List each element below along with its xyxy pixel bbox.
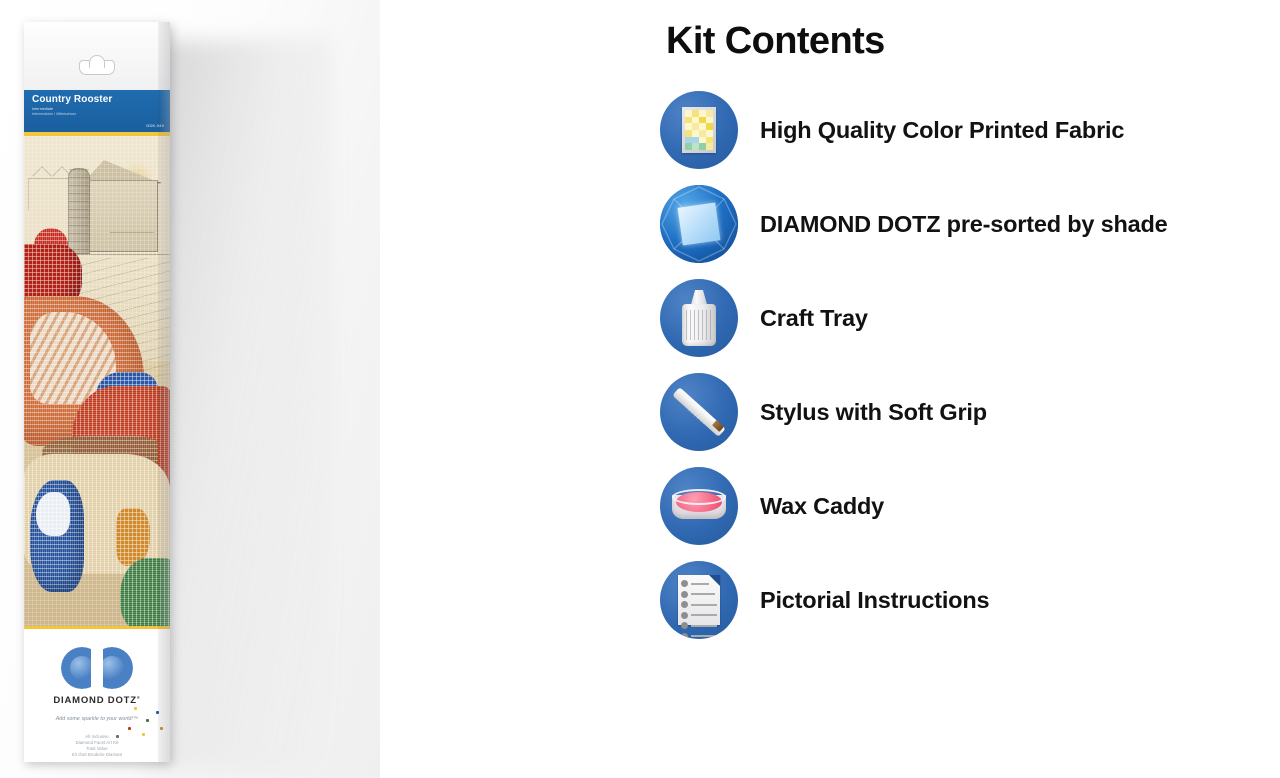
confetti-dot [128, 727, 131, 730]
confetti-dot [116, 735, 119, 738]
product-package-box: Country Rooster Intermediate Intermediai… [24, 22, 170, 762]
kit-contents-list: High Quality Color Printed Fabric DIAMON… [660, 83, 1280, 647]
tray-grooves [686, 310, 712, 340]
document-checklist-rows [681, 580, 717, 639]
wax-caddy-icon [660, 467, 738, 545]
craft-tray-icon [660, 279, 738, 357]
instructions-document-icon [660, 561, 738, 639]
confetti-dot [146, 719, 149, 722]
caddy-rim [672, 489, 726, 505]
printed-fabric-icon [660, 91, 738, 169]
kit-contents-section: Kit Contents High Quality Color Printed … [660, 0, 1280, 778]
artwork-fence [110, 232, 154, 252]
diamond-dotz-logo [24, 647, 170, 689]
tray-body [682, 304, 716, 346]
list-item-label: Wax Caddy [760, 493, 884, 520]
list-item-label: Pictorial Instructions [760, 587, 989, 614]
confetti-dot [142, 733, 145, 736]
package-side-edge [158, 22, 170, 762]
list-item-label: Craft Tray [760, 305, 868, 332]
artwork-mosaic-hen-highlight [36, 492, 70, 536]
fabric-swatch-grid [685, 110, 713, 150]
stylus-icon [660, 373, 738, 451]
dd-monogram-icon [61, 647, 133, 689]
list-item: Pictorial Instructions [660, 553, 1280, 647]
product-drop-shadow [150, 39, 330, 771]
euro-slot-hole [79, 60, 115, 75]
fabric-frame [682, 107, 716, 153]
caddy-shape [672, 489, 726, 523]
list-item: DIAMOND DOTZ pre-sorted by shade [660, 177, 1280, 271]
gem-table-facet [678, 203, 721, 246]
stylus-shape [665, 378, 733, 446]
confetti-dot [134, 707, 137, 710]
document-shape [678, 575, 720, 625]
list-item: High Quality Color Printed Fabric [660, 83, 1280, 177]
brand-name: DIAMOND DOTZ® [24, 695, 170, 706]
list-item-label: High Quality Color Printed Fabric [760, 117, 1124, 144]
list-item-label: DIAMOND DOTZ pre-sorted by shade [760, 211, 1168, 238]
page-title: Kit Contents [666, 20, 1280, 63]
fine-print-line-4: Kit d'art Broderie Diamant [24, 752, 170, 758]
package-artwork-window [24, 136, 170, 626]
tray-shape [682, 290, 716, 346]
package-hang-tab [24, 22, 170, 90]
list-item: Craft Tray [660, 271, 1280, 365]
package-subtitle: Intermediaire / Mittelschwer [32, 112, 162, 117]
list-item: Wax Caddy [660, 459, 1280, 553]
brand-registered-symbol: ® [137, 695, 141, 700]
package-title: Country Rooster [32, 94, 162, 105]
package-header-band: Country Rooster Intermediate Intermediai… [24, 90, 170, 132]
brand-name-text: DIAMOND DOTZ [53, 695, 136, 706]
list-item-label: Stylus with Soft Grip [760, 399, 987, 426]
package-brand-panel: DIAMOND DOTZ® Add some sparkle to your w… [24, 629, 170, 762]
diamond-gem-icon [660, 185, 738, 263]
artwork-silo [68, 168, 90, 254]
product-image-pane: Country Rooster Intermediate Intermediai… [0, 0, 380, 778]
list-item: Stylus with Soft Grip [660, 365, 1280, 459]
package-fine-print: All Inclusive Diamond Facet Art Kit Tota… [24, 734, 170, 758]
